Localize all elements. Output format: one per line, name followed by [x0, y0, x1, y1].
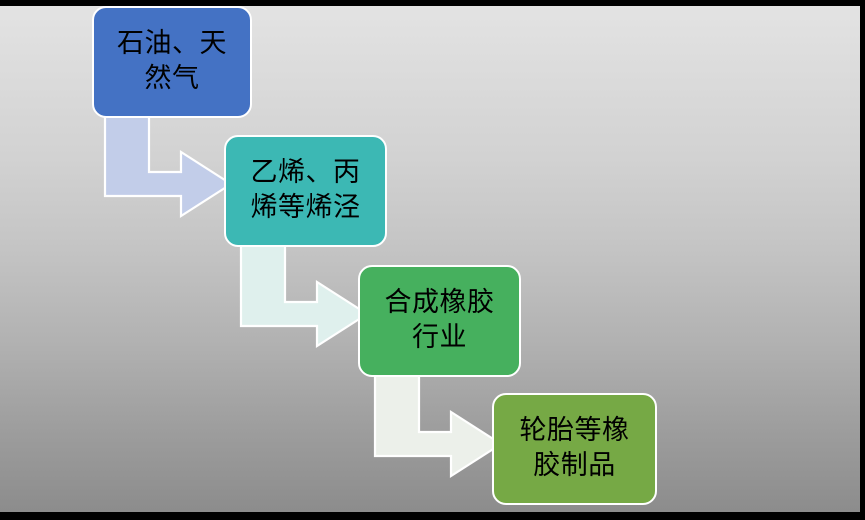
arrow-petroleum-to-olefins	[104, 110, 234, 220]
slide-background: 石油、天 然气 乙烯、丙 烯等烯泾 合成橡胶 行业 轮胎等橡 胶制品	[0, 6, 860, 512]
arrow-shape	[105, 111, 231, 216]
arrow-shape	[241, 241, 367, 346]
arrow-shape	[375, 371, 501, 476]
node-petroleum-natural-gas[interactable]: 石油、天 然气	[92, 6, 252, 118]
arrow-olefins-to-synthetic-rubber	[240, 240, 370, 350]
node-synthetic-rubber-industry[interactable]: 合成橡胶 行业	[358, 265, 521, 377]
arrow-synthetic-rubber-to-tires	[374, 370, 504, 480]
node-ethylene-propylene-olefins[interactable]: 乙烯、丙 烯等烯泾	[224, 135, 387, 247]
diagram-canvas: 石油、天 然气 乙烯、丙 烯等烯泾 合成橡胶 行业 轮胎等橡 胶制品	[0, 0, 865, 520]
node-tires-rubber-products[interactable]: 轮胎等橡 胶制品	[492, 393, 657, 505]
